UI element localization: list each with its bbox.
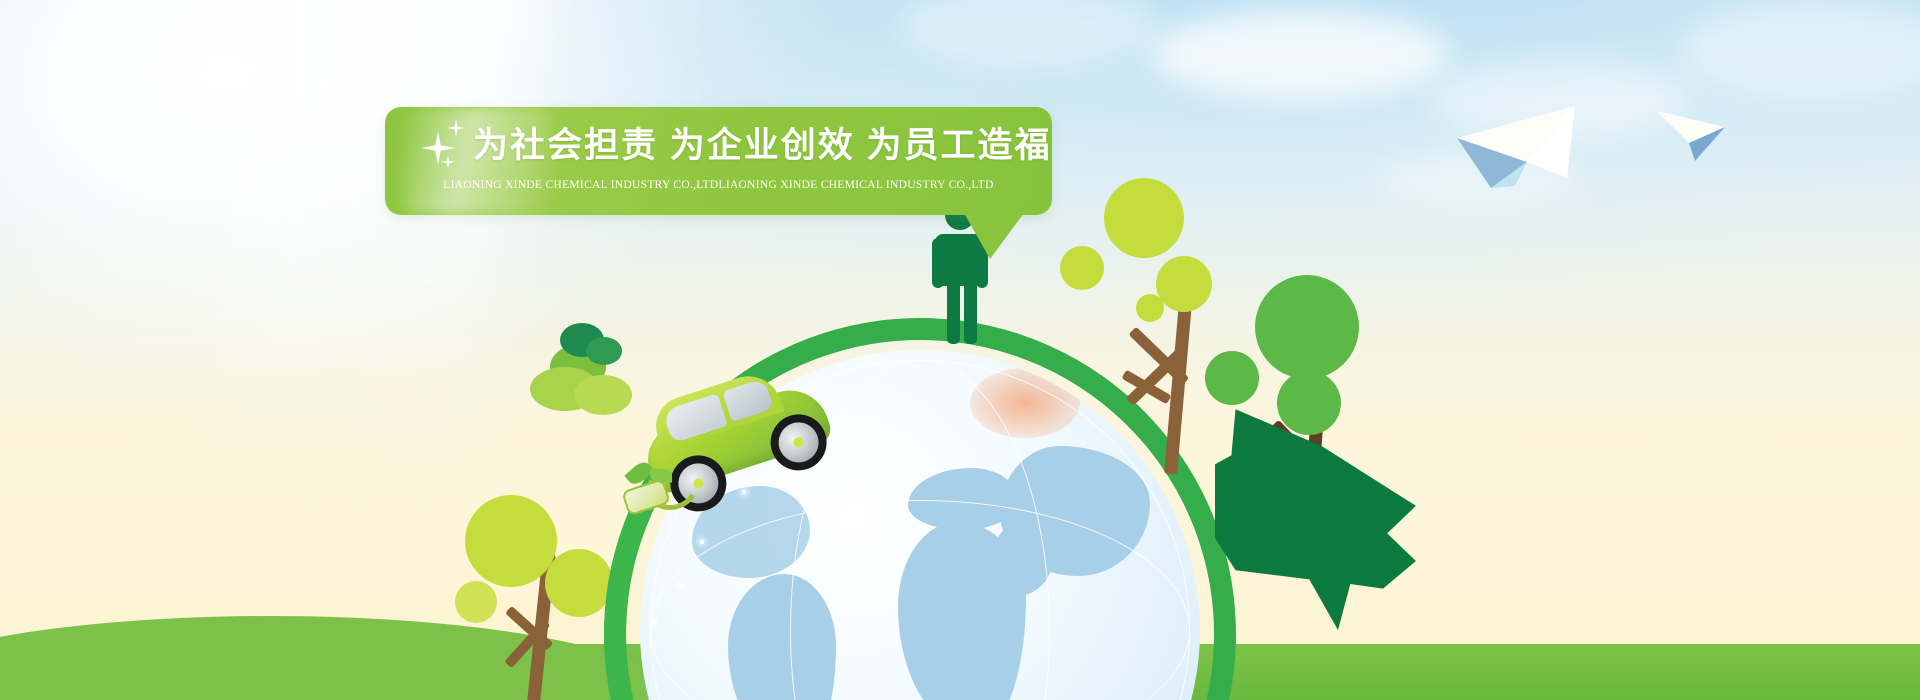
- slogan-headline: 为社会担责 为企业创效 为员工造福: [473, 123, 1038, 169]
- sparkle-icon: [407, 117, 479, 179]
- paper-plane-large-icon: [1455, 100, 1605, 195]
- plug-body: [621, 478, 671, 516]
- cloud: [1150, 10, 1450, 100]
- sparkle: [652, 620, 656, 624]
- sparkle: [678, 584, 683, 589]
- slogan-banner: 为社会担责 为企业创效 为员工造福 LIAONING XINDE CHEMICA…: [385, 107, 1052, 215]
- sparkle: [806, 500, 812, 506]
- person-leg-left: [947, 280, 960, 344]
- slogan-subline: LIAONING XINDE CHEMICAL INDUSTRY CO.,LTD…: [385, 179, 1052, 191]
- person-leg-right: [964, 280, 977, 344]
- banner-scene: 为社会担责 为企业创效 为员工造福 LIAONING XINDE CHEMICA…: [0, 0, 1920, 700]
- banner-tail: [964, 213, 1024, 259]
- light-beam: [208, 0, 552, 497]
- cloud: [900, 0, 1160, 70]
- power-plug-icon: [620, 471, 684, 521]
- cloud: [1680, 0, 1920, 100]
- paper-plane-small-icon: [1655, 105, 1735, 170]
- plug-leaf: [650, 469, 672, 483]
- sparkle: [700, 540, 704, 544]
